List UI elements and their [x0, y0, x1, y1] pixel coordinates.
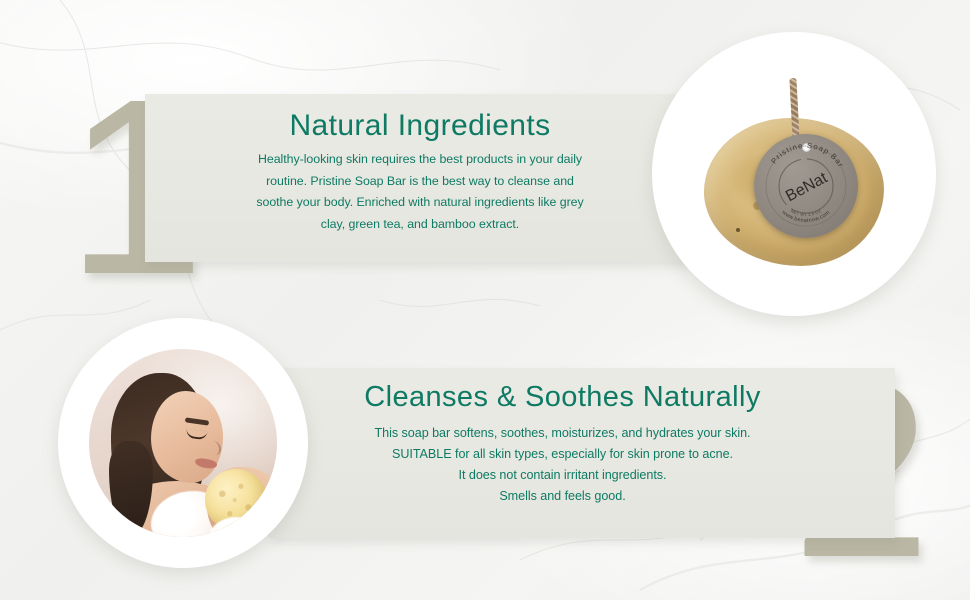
section-2-body-line: It does not contain irritant ingredients… — [300, 465, 825, 486]
shower-image-inner — [89, 349, 277, 537]
section-1-body: Healthy-looking skin requires the best p… — [180, 149, 660, 235]
face-shape — [151, 391, 223, 483]
section-1-body-line: routine. Pristine Soap Bar is the best w… — [180, 171, 660, 193]
tag-brand-text: BeNat — [783, 169, 831, 205]
svg-text:Pristine Soap Bar: Pristine Soap Bar — [769, 141, 846, 170]
soap-bar-image-inner: Pristine Soap Bar www.benatnow.com NET W… — [690, 70, 898, 278]
woman-shower-photo — [58, 318, 308, 568]
section-2-body-line: SUITABLE for all skin types, especially … — [300, 444, 825, 465]
product-hang-tag: Pristine Soap Bar www.benatnow.com NET W… — [754, 134, 858, 238]
soap-bar-photo: Pristine Soap Bar www.benatnow.com NET W… — [652, 32, 936, 316]
section-2-body: This soap bar softens, soothes, moisturi… — [300, 423, 825, 507]
tag-top-arc-text: Pristine Soap Bar — [769, 141, 846, 170]
section-2-text: Cleanses & Soothes Naturally This soap b… — [300, 372, 825, 507]
section-1-body-line: clay, green tea, and bamboo extract. — [180, 214, 660, 236]
shower-illustration — [89, 349, 277, 537]
tag-text-art: Pristine Soap Bar www.benatnow.com NET W… — [754, 134, 858, 238]
infographic-stage: 1 2 Natural Ingredients Healthy-looking … — [0, 0, 970, 600]
section-2-body-line: Smells and feels good. — [300, 486, 825, 507]
section-2-heading: Cleanses & Soothes Naturally — [300, 372, 825, 414]
svg-text:NET WT 3.5 OZ: NET WT 3.5 OZ — [790, 208, 822, 217]
nose-shape — [207, 441, 221, 455]
section-1-body-line: soothe your body. Enriched with natural … — [180, 192, 660, 214]
soap-bar-illustration: Pristine Soap Bar www.benatnow.com NET W… — [690, 70, 898, 278]
section-1-text: Natural Ingredients Healthy-looking skin… — [180, 100, 660, 235]
tag-net-weight-text: NET WT 3.5 OZ — [790, 208, 822, 217]
section-1-heading: Natural Ingredients — [180, 100, 660, 143]
section-1-body-line: Healthy-looking skin requires the best p… — [180, 149, 660, 171]
section-2-body-line: This soap bar softens, soothes, moisturi… — [300, 423, 825, 444]
soap-speck — [736, 228, 740, 232]
